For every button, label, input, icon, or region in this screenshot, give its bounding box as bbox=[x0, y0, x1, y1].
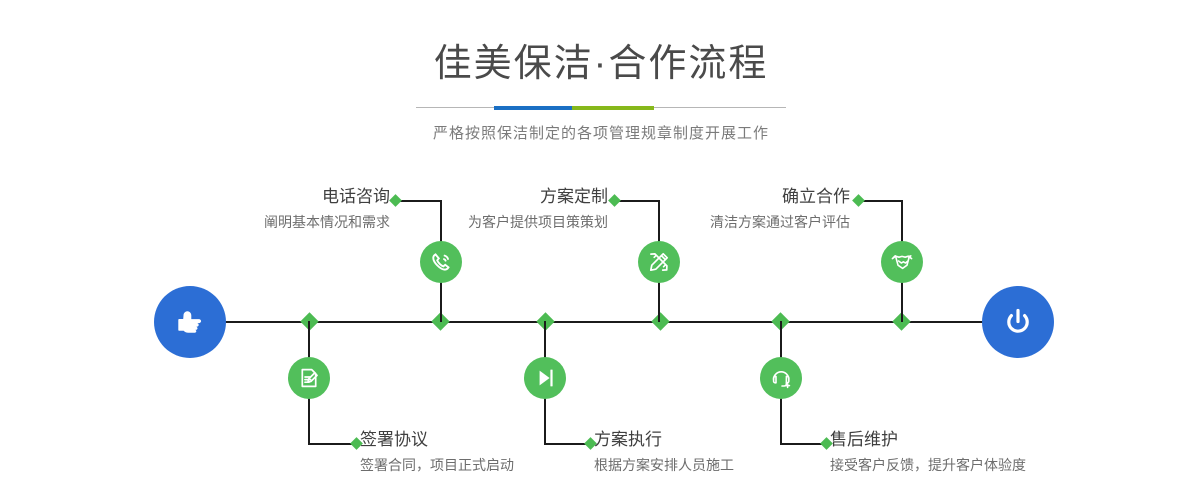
axis-marker-4 bbox=[651, 312, 669, 330]
step-icon-6[interactable] bbox=[760, 357, 802, 399]
step-icon-4[interactable] bbox=[524, 357, 566, 399]
connector-dot-step-5 bbox=[852, 194, 865, 207]
step-label-1: 电话咨询 阐明基本情况和需求 bbox=[150, 186, 390, 233]
step-label-6: 售后维护 接受客户反馈，提升客户体验度 bbox=[830, 429, 1130, 476]
document-edit-icon bbox=[296, 365, 322, 391]
phone-call-icon bbox=[428, 249, 454, 275]
page-header: 佳美保洁·合作流程 严格按照保洁制定的各项管理规章制度开展工作 bbox=[0, 0, 1202, 143]
step-label-5: 确立合作 清洁方案通过客户评估 bbox=[610, 186, 850, 233]
divider-green-segment bbox=[572, 106, 654, 110]
step-icon-2[interactable] bbox=[288, 357, 330, 399]
step-title-6: 售后维护 bbox=[830, 429, 1130, 451]
step-title-1: 电话咨询 bbox=[150, 186, 390, 208]
start-node bbox=[154, 286, 226, 358]
connector-horizontal-step-2 bbox=[308, 443, 356, 445]
step-icon-1[interactable] bbox=[420, 241, 462, 283]
play-execute-icon bbox=[532, 365, 558, 391]
step-title-3: 方案定制 bbox=[370, 186, 608, 208]
power-icon bbox=[998, 302, 1038, 342]
step-label-3: 方案定制 为客户提供项目策策划 bbox=[370, 186, 608, 233]
divider-blue-segment bbox=[494, 106, 572, 110]
pointing-hand-icon bbox=[170, 302, 210, 342]
handshake-icon bbox=[889, 249, 915, 275]
step-desc-3: 为客户提供项目策策划 bbox=[370, 208, 608, 233]
step-title-5: 确立合作 bbox=[610, 186, 850, 208]
page-subtitle: 严格按照保洁制定的各项管理规章制度开展工作 bbox=[0, 110, 1202, 143]
title-divider bbox=[416, 106, 786, 110]
step-desc-5: 清洁方案通过客户评估 bbox=[610, 208, 850, 233]
step-desc-1: 阐明基本情况和需求 bbox=[150, 208, 390, 233]
step-icon-3[interactable] bbox=[638, 241, 680, 283]
step-desc-6: 接受客户反馈，提升客户体验度 bbox=[830, 451, 1130, 476]
page-title: 佳美保洁·合作流程 bbox=[0, 0, 1202, 88]
step-icon-5[interactable] bbox=[881, 241, 923, 283]
pencil-ruler-icon bbox=[646, 249, 672, 275]
finish-node bbox=[982, 286, 1054, 358]
headset-support-icon bbox=[768, 365, 794, 391]
flowchart-page: 佳美保洁·合作流程 严格按照保洁制定的各项管理规章制度开展工作 bbox=[0, 0, 1202, 502]
